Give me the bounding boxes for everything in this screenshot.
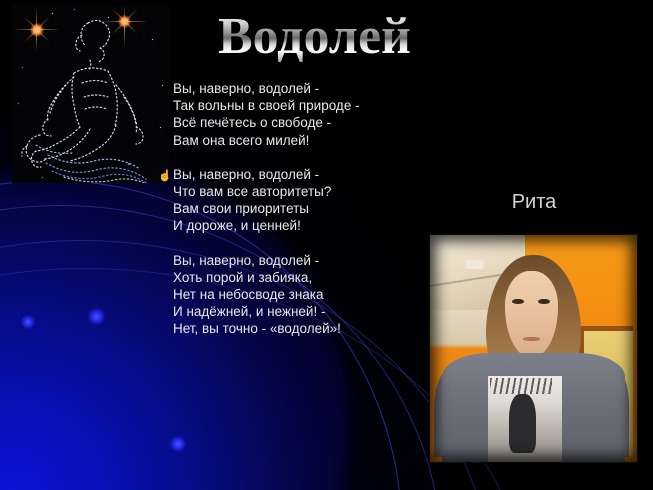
- hand-cursor-icon: ☝: [158, 171, 167, 182]
- poem-line: Всё печётесь о свободе -: [173, 114, 423, 131]
- poem-line: И надёжней, и нежней! -: [173, 303, 423, 320]
- field-star: [128, 163, 130, 165]
- poem-line: Хоть порой и забияка,: [173, 269, 423, 286]
- field-star: [52, 13, 53, 14]
- poem-line: И дороже, и ценней!: [173, 217, 423, 234]
- poem-stanza: Вы, наверно, водолей - Так вольны в свое…: [173, 80, 423, 149]
- photo-mouth: [523, 337, 540, 341]
- page-title: Водолей: [218, 6, 468, 68]
- field-star: [162, 85, 163, 86]
- poem-stanza: Вы, наверно, водолей - Что вам все автор…: [173, 166, 423, 235]
- field-star: [22, 67, 23, 68]
- background-node-dot-1: [21, 315, 35, 329]
- field-star: [18, 103, 19, 104]
- presentation-slide: ☝ Водолей Вы, наверно, водолей - Так вол…: [0, 0, 653, 490]
- poem-line: Вы, наверно, водолей -: [173, 252, 423, 269]
- portrait-photo: [429, 234, 638, 463]
- photo-shirt-print-text: [490, 378, 552, 394]
- field-star: [42, 177, 43, 178]
- poem-line: Так вольны в своей природе -: [173, 97, 423, 114]
- poem-line: Вы, наверно, водолей -: [173, 166, 423, 183]
- photo-lamp: [465, 260, 484, 269]
- poem-line: Нет на небосводе знака: [173, 286, 423, 303]
- constellation-image: ☝: [12, 5, 169, 183]
- field-star: [108, 17, 109, 18]
- background-node-dot-2: [88, 308, 105, 325]
- field-star: [160, 127, 161, 128]
- person-name-label: Рита: [430, 190, 638, 214]
- poem-line: Вам свои приоритеты: [173, 200, 423, 217]
- poem-line: Вам она всего милей!: [173, 132, 423, 149]
- poem-line: Вы, наверно, водолей -: [173, 80, 423, 97]
- poem-stanza: Вы, наверно, водолей - Хоть порой и заби…: [173, 252, 423, 338]
- poem-line: Нет, вы точно - «водолей»!: [173, 320, 423, 337]
- poem-line: Что вам все авторитеты?: [173, 183, 423, 200]
- background-node-dot-3: [170, 436, 186, 452]
- poem-body: Вы, наверно, водолей - Так вольны в свое…: [173, 80, 423, 338]
- constellation-figure-outline: [12, 5, 169, 183]
- field-star: [152, 39, 153, 40]
- photo-shirt-print-figure: [509, 394, 536, 453]
- field-star: [74, 9, 75, 10]
